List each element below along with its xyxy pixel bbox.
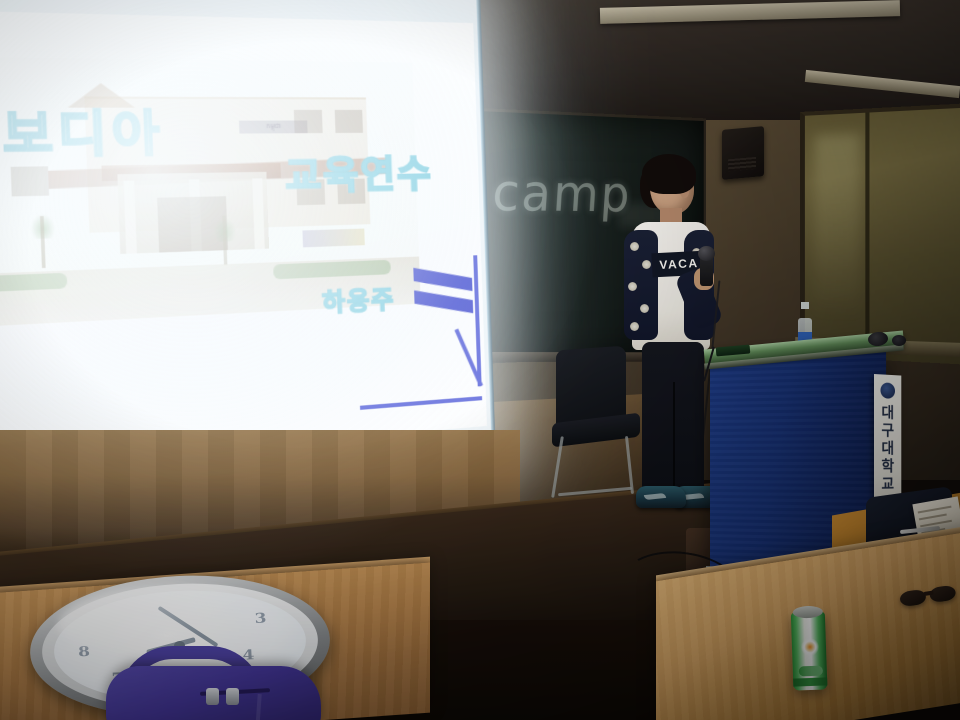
chalkboard-text: camp	[490, 163, 633, 223]
presenter-leg-split	[673, 382, 675, 492]
presenter-shoe-left	[636, 486, 686, 508]
beverage-can-flower-icon	[801, 638, 820, 657]
clock-numeral: 8	[78, 644, 91, 661]
presenter-hair	[642, 154, 696, 194]
beverage-can-band	[793, 677, 827, 686]
beverage-can-body	[791, 611, 828, 690]
university-crest-icon	[880, 382, 895, 399]
slide: កម្ពុជា	[0, 10, 487, 474]
water-bottle-cap	[801, 302, 809, 309]
microphone-head-icon	[698, 246, 715, 261]
slide-photo-palm	[213, 218, 237, 266]
slide-presenter-name: 하용주	[322, 279, 396, 318]
slide-photo-window	[294, 110, 323, 133]
backpack	[96, 646, 326, 720]
beverage-can-leaf-icon	[799, 666, 823, 677]
clock-numeral: 3	[254, 610, 267, 627]
presenter-sleeve-left	[624, 230, 658, 340]
podium-sign-char: 구	[881, 423, 894, 438]
presenter-legs	[642, 342, 704, 492]
slide-photo-banner	[302, 229, 364, 248]
backpack-seam	[254, 694, 261, 720]
podium-knob	[892, 335, 906, 346]
beverage-can	[791, 603, 830, 690]
window	[800, 103, 960, 365]
slide-subtitle: 교육연수	[284, 145, 434, 202]
slide-photo-window	[11, 166, 49, 196]
shoe-swoosh-icon	[644, 493, 666, 500]
speaker-grill	[728, 157, 756, 171]
slide-photo-palm	[30, 214, 57, 269]
podium-sign-char: 대	[881, 441, 894, 456]
slide-accent-bar-right-2	[414, 290, 473, 313]
backpack-zipper-pull	[206, 688, 219, 705]
slide-title: 캄보디아	[0, 94, 165, 168]
backpack-zipper-pull	[226, 688, 239, 705]
slide-photo-window	[335, 110, 363, 133]
podium-sign-char: 교	[881, 477, 894, 492]
podium-sign-char: 학	[881, 459, 894, 474]
podium-sign-char: 대	[881, 405, 894, 420]
slide-accent-bar-right-1	[413, 268, 472, 291]
chair-leg	[558, 487, 632, 496]
slide-accent-bottom-rail	[360, 396, 482, 410]
sunglasses-lens-left	[899, 589, 927, 607]
window-mullion	[865, 113, 869, 360]
photo-scene: camp កម្ពុជា	[0, 0, 960, 720]
window-glow	[815, 133, 860, 318]
